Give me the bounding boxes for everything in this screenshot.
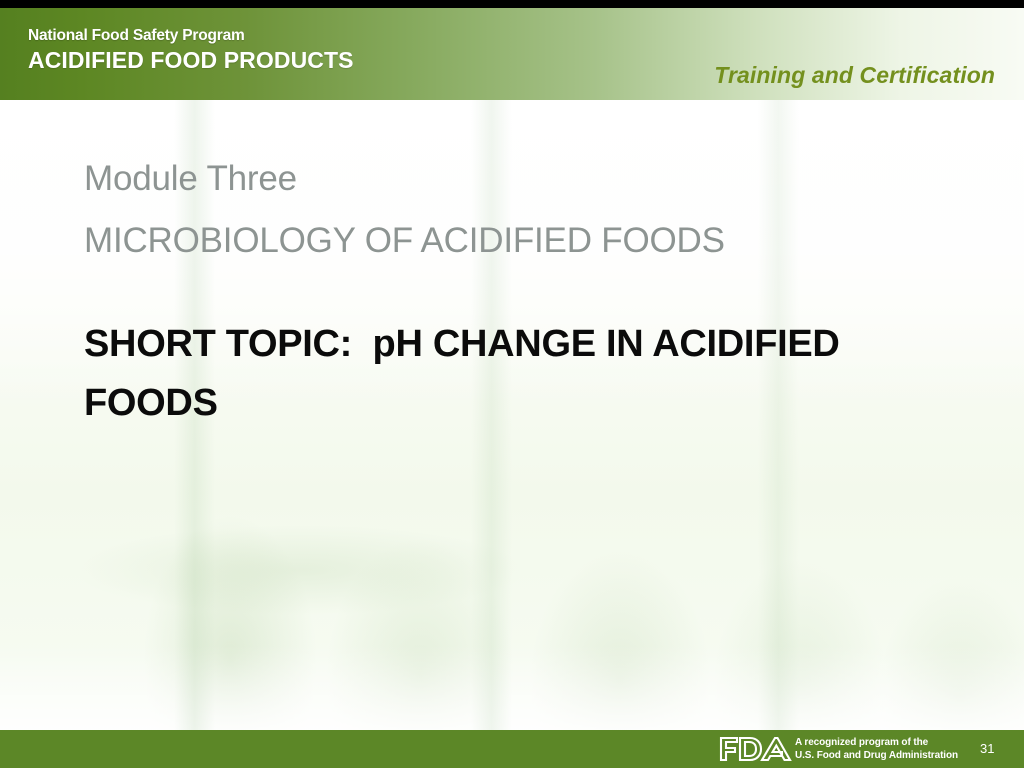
slide-canvas: National Food Safety Program ACIDIFIED F… — [0, 0, 1024, 768]
module-topic: MICROBIOLOGY OF ACIDIFIED FOODS — [84, 217, 964, 265]
slide-content: Module Three MICROBIOLOGY OF ACIDIFIED F… — [84, 155, 964, 433]
fda-logo-icon — [718, 735, 792, 763]
slide-number: 31 — [980, 741, 994, 756]
module-number: Module Three — [84, 155, 964, 203]
training-and-certification-tag: Training and Certification — [714, 62, 995, 89]
product-title: ACIDIFIED FOOD PRODUCTS — [28, 46, 354, 75]
slide-header-band: National Food Safety Program ACIDIFIED F… — [0, 8, 1024, 100]
short-topic-heading: SHORT TOPIC: pH CHANGE IN ACIDIFIED FOOD… — [84, 315, 964, 433]
fda-credit-text: A recognized program of the U.S. Food an… — [795, 736, 958, 762]
header-title-group: National Food Safety Program ACIDIFIED F… — [28, 26, 354, 75]
slide-footer-band: A recognized program of the U.S. Food an… — [0, 730, 1024, 768]
program-name: National Food Safety Program — [28, 26, 354, 45]
top-black-strip — [0, 0, 1024, 8]
fda-credit-line-1: A recognized program of the — [795, 736, 958, 749]
fda-credit-line-2: U.S. Food and Drug Administration — [795, 749, 958, 762]
